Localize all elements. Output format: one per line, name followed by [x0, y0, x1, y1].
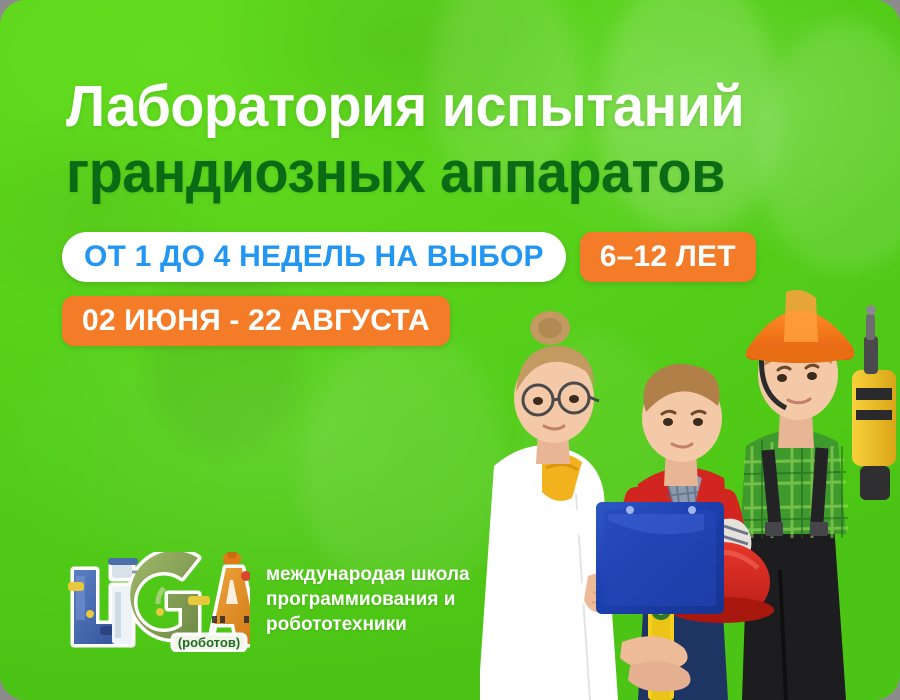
brand-tagline: международая школа программиования и роб… [266, 562, 470, 637]
headline-line-2: грандиозных аппаратов [66, 142, 824, 204]
tagline-line-3: робототехники [266, 612, 470, 637]
boy-builder [740, 290, 854, 700]
promo-banner: Лаборатория испытаний грандиозных аппара… [0, 0, 900, 700]
headline-line-1: Лаборатория испытаний [66, 76, 824, 138]
children-photo [480, 270, 900, 700]
tagline-line-2: программиования и [266, 587, 470, 612]
liga-robotov-logo-icon: (роботов) [60, 552, 250, 652]
badge-date-range: 02 ИЮНЯ - 22 АВГУСТА [62, 296, 450, 346]
brand-logo-block[interactable]: (роботов) международая школа программиов… [60, 552, 470, 652]
page-title: Лаборатория испытаний грандиозных аппара… [66, 76, 856, 204]
logo-subtag-text: (роботов) [178, 635, 240, 650]
badge-row-dates: 02 ИЮНЯ - 22 АВГУСТА [62, 296, 450, 346]
blue-clipboard [596, 502, 724, 614]
cordless-drill [852, 305, 896, 500]
tagline-line-1: международая школа [266, 562, 470, 587]
